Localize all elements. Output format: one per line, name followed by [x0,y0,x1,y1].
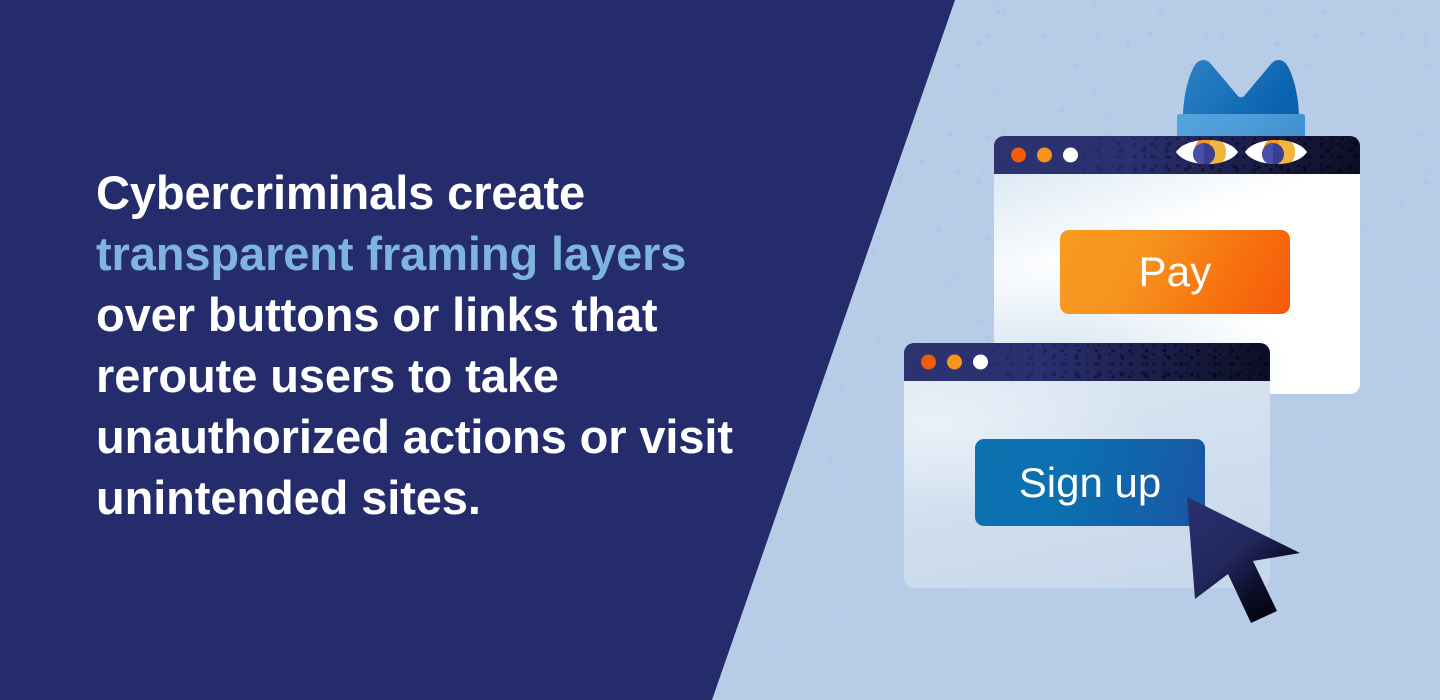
sign-up-button[interactable]: Sign up [975,439,1205,526]
headline-part-2: over buttons or links that reroute users… [96,288,733,524]
eye-right-icon [1243,133,1309,171]
page-title: Cybercriminals create transparent framin… [96,162,796,528]
close-dot-icon[interactable] [921,355,936,370]
mouse-cursor-icon [1183,495,1311,625]
maximize-dot-icon[interactable] [973,355,988,370]
illustration-banner: Cybercriminals create transparent framin… [0,0,1440,700]
eye-left-icon [1174,133,1240,171]
titlebar [904,343,1270,381]
maximize-dot-icon[interactable] [1063,148,1078,163]
headline-part-1: Cybercriminals create [96,166,585,219]
minimize-dot-icon[interactable] [1037,148,1052,163]
pay-button[interactable]: Pay [1060,230,1290,314]
minimize-dot-icon[interactable] [947,355,962,370]
headline-highlight: transparent framing layers [96,227,686,280]
window-controls [921,355,988,370]
window-controls [1011,148,1078,163]
close-dot-icon[interactable] [1011,148,1026,163]
